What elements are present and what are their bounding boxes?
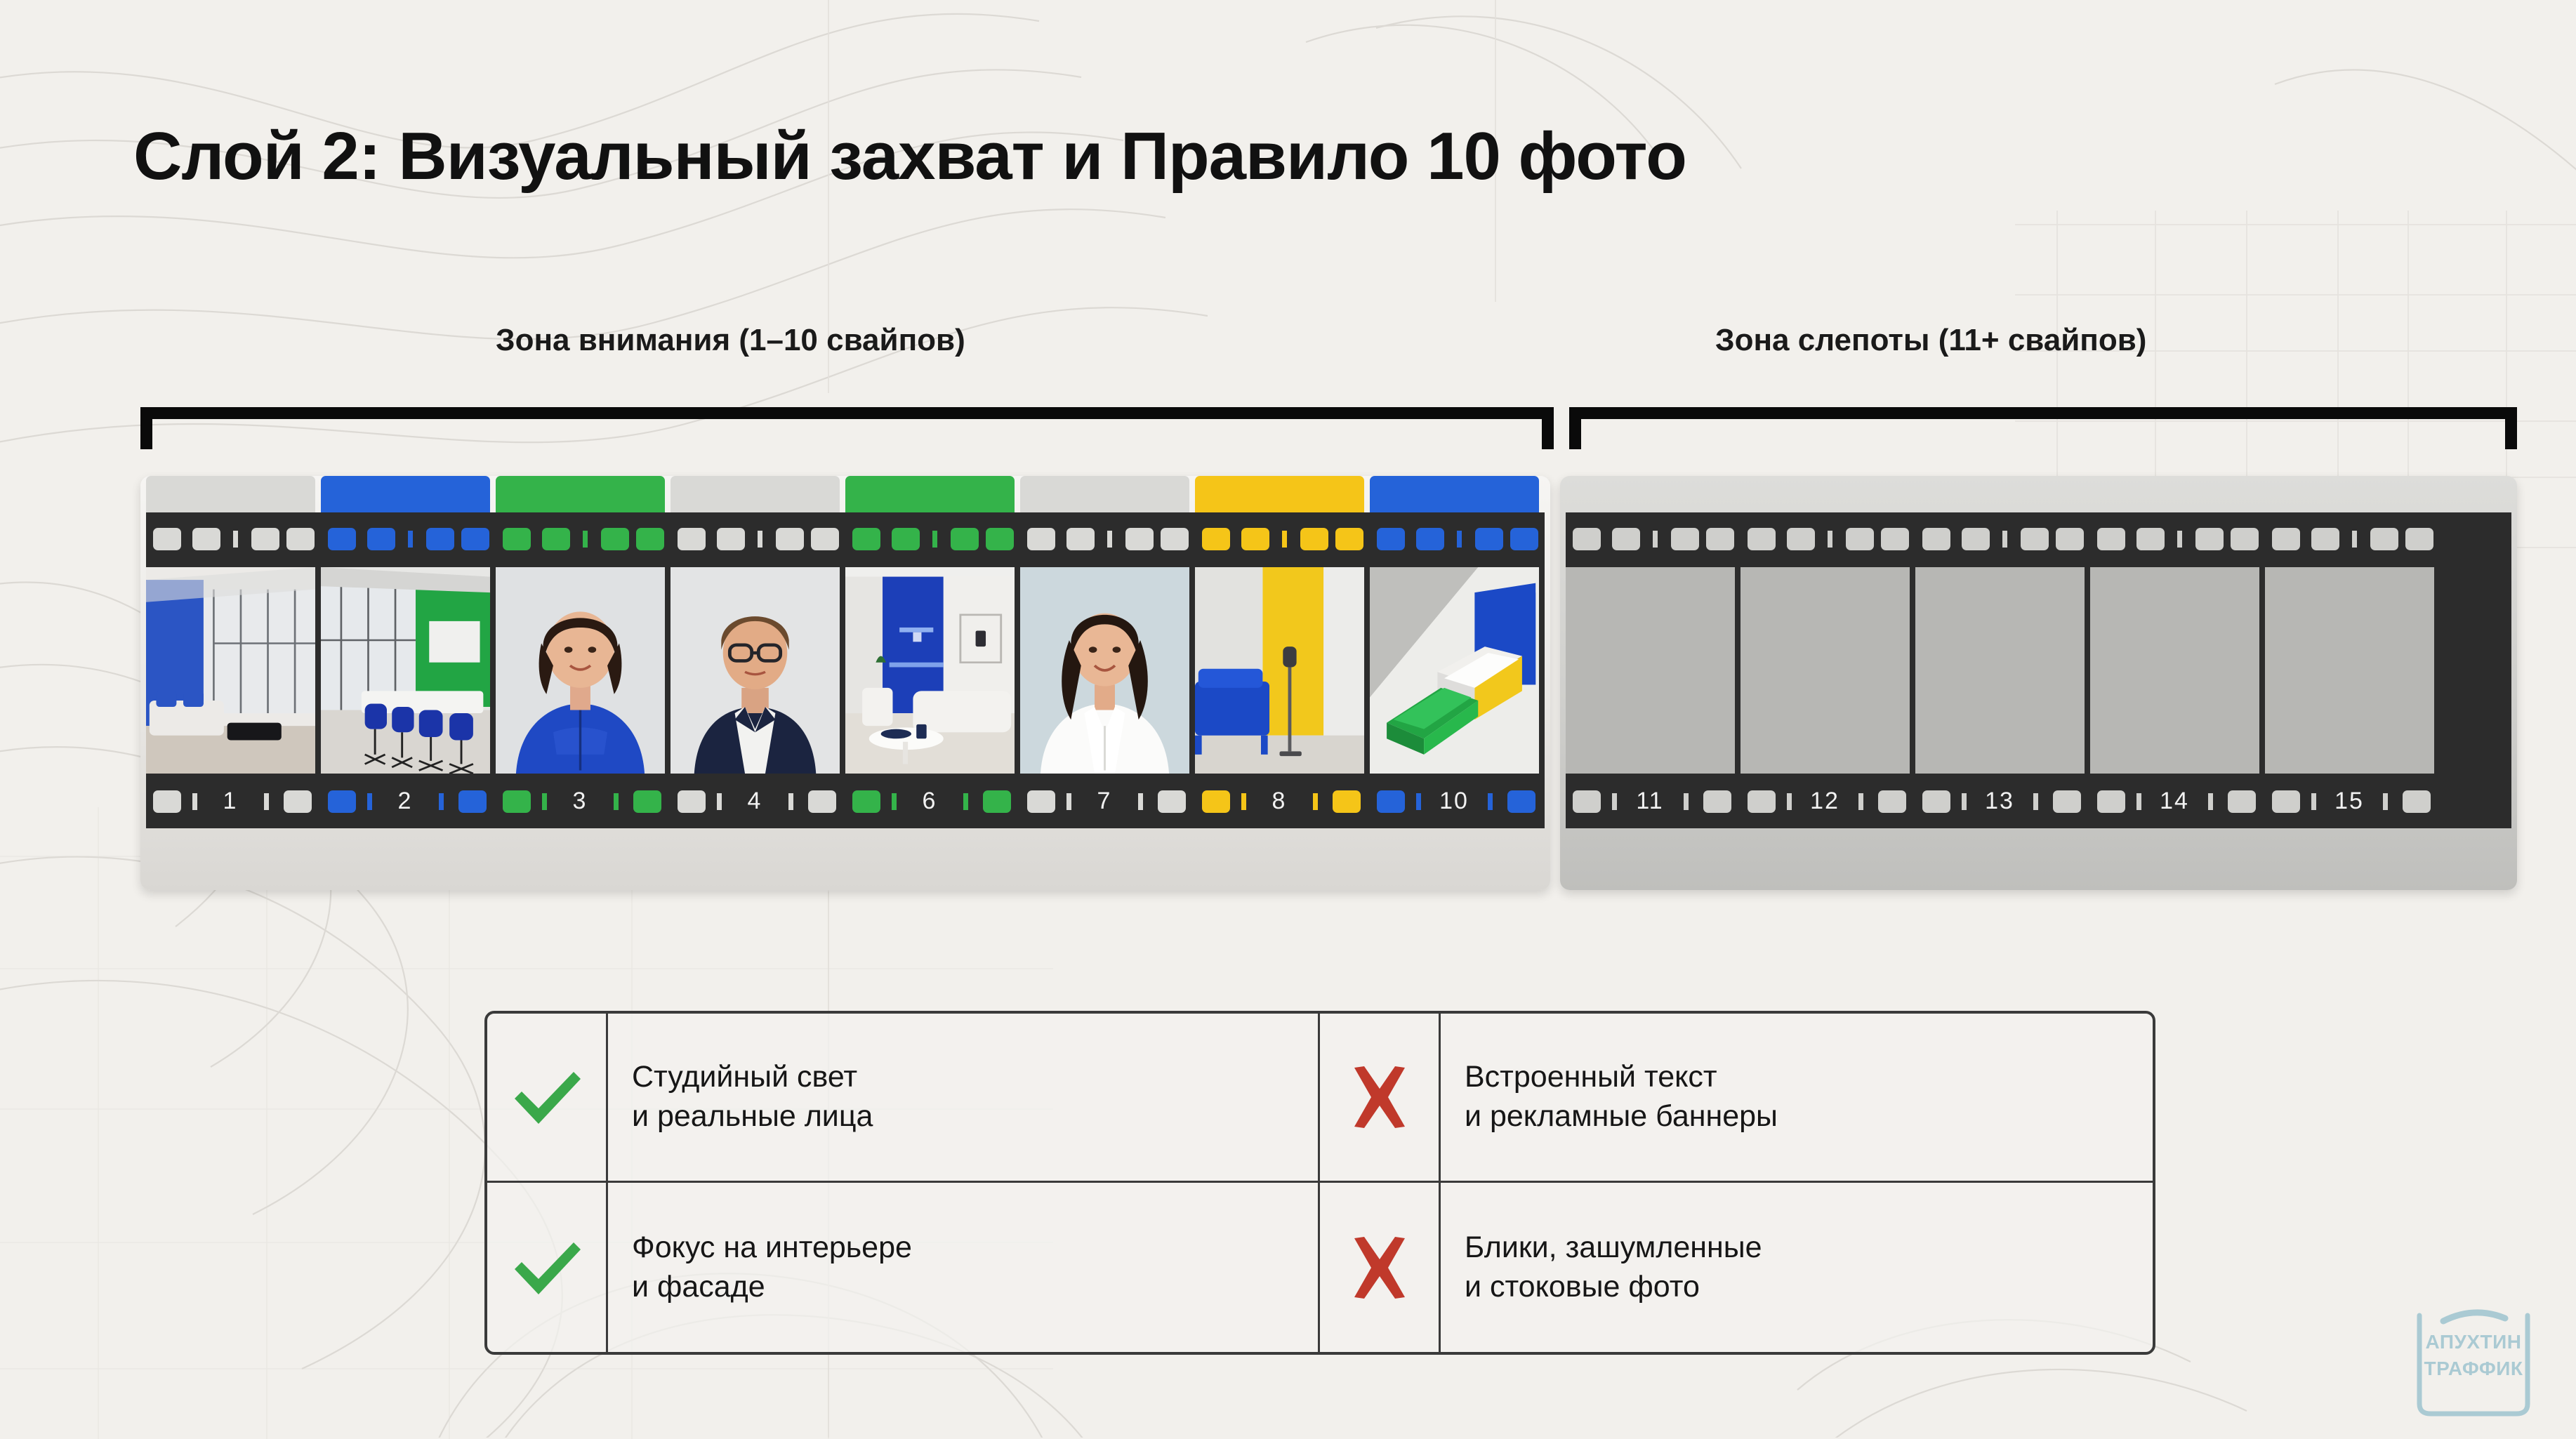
perforation-pip xyxy=(1138,793,1143,810)
perforation-hole xyxy=(503,528,531,550)
bracket-attention-zone xyxy=(140,407,1554,449)
perforation-row-bottom: 1112131415 xyxy=(1566,785,2511,818)
checklist-line-1: Встроенный текст xyxy=(1465,1058,1778,1097)
frame-photo xyxy=(146,567,315,774)
perforation-hole xyxy=(1300,528,1328,550)
perforation-pip xyxy=(788,793,793,810)
perforation-hole xyxy=(1158,790,1186,813)
perforation-hole xyxy=(2097,790,2125,813)
perforation-pip xyxy=(1612,793,1617,810)
perforation-hole xyxy=(2403,790,2431,813)
frame-color-tab xyxy=(1195,476,1364,512)
film-frame[interactable] xyxy=(321,567,490,774)
perforation-hole xyxy=(2272,528,2300,550)
page-title: Слой 2: Визуальный захват и Правило 10 ф… xyxy=(133,118,1686,195)
perforation-hole xyxy=(458,790,487,813)
perforation-pip xyxy=(1416,793,1421,810)
check-icon xyxy=(487,1183,608,1352)
perforation-hole xyxy=(1706,528,1734,550)
frame-list-attention xyxy=(146,567,1545,774)
perforation-hole xyxy=(1787,528,1815,550)
film-frame[interactable] xyxy=(1741,567,1910,774)
perforation-hole xyxy=(1241,528,1269,550)
bracket-tick-left xyxy=(140,407,152,449)
perforation-hole xyxy=(2228,790,2256,813)
perforation-pip xyxy=(1653,531,1658,548)
perforation-hole xyxy=(2136,528,2165,550)
filmstrip-band-attention: 123467810 xyxy=(146,512,1545,828)
perforation-pip xyxy=(1787,793,1792,810)
perforation-pip xyxy=(2383,793,2388,810)
perforation-pip xyxy=(2177,531,2182,548)
perforation-hole xyxy=(1922,790,1950,813)
perforation-pip xyxy=(1066,793,1071,810)
perforation-pip xyxy=(1828,531,1832,548)
perforation-hole xyxy=(1846,528,1874,550)
film-frame[interactable] xyxy=(2265,567,2434,774)
perforation-hole xyxy=(1748,790,1776,813)
frame-color-tab xyxy=(321,476,490,512)
perforation-pip xyxy=(2208,793,2213,810)
perforation-pip xyxy=(192,793,197,810)
checklist-cell-good-1: Студийный свет и реальные лица xyxy=(487,1014,1320,1183)
perforation-hole xyxy=(1881,528,1909,550)
perforation-hole xyxy=(892,528,920,550)
perforation-hole xyxy=(1202,528,1230,550)
filmstrip-band-blindness: 1112131415 xyxy=(1566,512,2511,828)
perforation-hole xyxy=(2056,528,2084,550)
perforation-row-top xyxy=(146,522,1545,556)
checklist-line-2: и рекламные баннеры xyxy=(1465,1097,1778,1136)
perforation-hole xyxy=(1125,528,1154,550)
perforation-hole xyxy=(2370,528,2398,550)
perforation-hole xyxy=(153,528,181,550)
perforation-pip xyxy=(963,793,968,810)
perforation-hole xyxy=(2053,790,2081,813)
film-frame[interactable] xyxy=(671,567,840,774)
perforation-hole xyxy=(286,528,315,550)
checklist-line-1: Блики, зашумленные xyxy=(1465,1228,1762,1268)
perforation-hole xyxy=(1962,528,1990,550)
perforation-pip xyxy=(439,793,444,810)
frame-color-tab xyxy=(496,476,665,512)
check-icon xyxy=(487,1014,608,1181)
perforation-hole xyxy=(251,528,279,550)
frame-photo xyxy=(1370,567,1539,774)
perforation-hole xyxy=(503,790,531,813)
frame-number: 11 xyxy=(1622,788,1678,815)
perforation-pip xyxy=(1488,793,1493,810)
cross-icon-glyph xyxy=(1346,1063,1413,1131)
zone-attention-label: Зона внимания (1–10 свайпов) xyxy=(496,323,965,358)
checklist-line-2: и фасаде xyxy=(632,1268,912,1307)
check-icon-glyph xyxy=(509,1233,585,1303)
bracket-blindness-zone xyxy=(1569,407,2517,449)
perforation-hole xyxy=(2231,528,2259,550)
perforation-hole xyxy=(328,790,356,813)
frame-number: 12 xyxy=(1797,788,1853,815)
cross-icon xyxy=(1320,1014,1441,1181)
perforation-hole xyxy=(1878,790,1906,813)
perforation-row-top xyxy=(1566,522,2511,556)
perforation-pip xyxy=(367,793,372,810)
perforation-pip xyxy=(1282,531,1287,548)
perforation-hole xyxy=(1027,528,1055,550)
checklist-text: Студийный свет и реальные лица xyxy=(608,1058,873,1136)
perforation-hole xyxy=(633,790,661,813)
perforation-hole xyxy=(1416,528,1444,550)
perforation-hole xyxy=(852,790,880,813)
bracket-tick-right xyxy=(1542,407,1554,449)
perforation-hole xyxy=(1510,528,1538,550)
perforation-row-bottom: 123467810 xyxy=(146,785,1545,818)
checklist-line-2: и реальные лица xyxy=(632,1097,873,1136)
perforation-hole xyxy=(601,528,629,550)
perforation-hole xyxy=(2311,528,2339,550)
checklist-text: Фокус на интерьере и фасаде xyxy=(608,1228,912,1307)
perforation-hole xyxy=(1671,528,1699,550)
perforation-hole xyxy=(192,528,220,550)
film-frame[interactable] xyxy=(146,567,315,774)
perforation-hole xyxy=(1066,528,1095,550)
perforation-hole xyxy=(678,790,706,813)
film-frame[interactable] xyxy=(1566,567,1735,774)
perforation-pip xyxy=(1241,793,1246,810)
film-frame[interactable] xyxy=(1370,567,1539,774)
perforation-pip xyxy=(1962,793,1967,810)
cross-icon xyxy=(1320,1183,1441,1352)
frame-number: 7 xyxy=(1076,788,1132,815)
checklist-table: Студийный свет и реальные лица Встроенны… xyxy=(484,1011,2155,1355)
perforation-hole xyxy=(153,790,181,813)
perforation-pip xyxy=(2136,793,2141,810)
film-frame[interactable] xyxy=(1020,567,1189,774)
bracket-bar xyxy=(140,407,1554,419)
perforation-hole xyxy=(1377,528,1405,550)
frame-number: 6 xyxy=(901,788,958,815)
film-frame[interactable] xyxy=(1195,567,1364,774)
perforation-hole xyxy=(426,528,454,550)
frame-number: 1 xyxy=(202,788,258,815)
checklist-line-1: Студийный свет xyxy=(632,1058,873,1097)
watermark-line-2: ТРАФФИК xyxy=(2410,1358,2537,1380)
checklist-text: Блики, зашумленные и стоковые фото xyxy=(1441,1228,1762,1307)
perforation-hole xyxy=(328,528,356,550)
bracket-tick-left xyxy=(1569,407,1581,449)
perforation-hole xyxy=(542,528,570,550)
perforation-pip xyxy=(932,531,937,548)
perforation-pip xyxy=(758,531,762,548)
frame-color-tab xyxy=(845,476,1015,512)
frame-photo xyxy=(1020,567,1189,774)
watermark-line-1: АПУХТИН xyxy=(2410,1331,2537,1353)
perforation-hole xyxy=(284,790,312,813)
frame-number: 8 xyxy=(1251,788,1307,815)
checklist-line-1: Фокус на интерьере xyxy=(632,1228,912,1268)
check-icon-glyph xyxy=(509,1062,585,1132)
perforation-pip xyxy=(2311,793,2316,810)
perforation-hole xyxy=(776,528,804,550)
film-frame[interactable] xyxy=(2090,567,2259,774)
film-frame[interactable] xyxy=(496,567,665,774)
frame-number: 14 xyxy=(2146,788,2202,815)
perforation-hole xyxy=(852,528,880,550)
perforation-pip xyxy=(1457,531,1462,548)
perforation-hole xyxy=(2021,528,2049,550)
perforation-hole xyxy=(1703,790,1731,813)
perforation-hole xyxy=(1507,790,1535,813)
perforation-hole xyxy=(983,790,1011,813)
watermark-logo: АПУХТИН ТРАФФИК xyxy=(2410,1297,2537,1422)
filmstrip: 123467810 1112131415 xyxy=(140,476,2517,890)
perforation-pip xyxy=(2352,531,2357,548)
perforation-hole xyxy=(1573,790,1601,813)
perforation-hole xyxy=(1161,528,1189,550)
frame-photo xyxy=(845,567,1015,774)
perforation-hole xyxy=(811,528,839,550)
frame-list-blindness xyxy=(1566,567,2511,774)
perforation-hole xyxy=(1377,790,1405,813)
frame-color-tab xyxy=(146,476,315,512)
perforation-pip xyxy=(2033,793,2038,810)
filmstrip-color-tabs xyxy=(146,476,1545,512)
zone-blindness-label: Зона слепоты (11+ свайпов) xyxy=(1715,323,2146,358)
frame-number: 4 xyxy=(727,788,783,815)
perforation-pip xyxy=(542,793,547,810)
perforation-hole xyxy=(367,528,395,550)
perforation-pip xyxy=(1107,531,1112,548)
perforation-pip xyxy=(2002,531,2007,548)
frame-number: 15 xyxy=(2321,788,2377,815)
perforation-hole xyxy=(2405,528,2433,550)
frame-number: 3 xyxy=(552,788,608,815)
checklist-cell-bad-2: Блики, зашумленные и стоковые фото xyxy=(1320,1183,2153,1352)
perforation-hole xyxy=(2195,528,2224,550)
frame-photo xyxy=(321,567,490,774)
perforation-hole xyxy=(808,790,836,813)
perforation-hole xyxy=(1922,528,1950,550)
perforation-hole xyxy=(2272,790,2300,813)
perforation-hole xyxy=(986,528,1014,550)
perforation-pip xyxy=(1313,793,1318,810)
frame-photo xyxy=(496,567,665,774)
perforation-hole xyxy=(636,528,664,550)
film-frame[interactable] xyxy=(845,567,1015,774)
perforation-pip xyxy=(408,531,413,548)
perforation-hole xyxy=(1475,528,1503,550)
checklist-cell-good-2: Фокус на интерьере и фасаде xyxy=(487,1183,1320,1352)
cross-icon-glyph xyxy=(1346,1234,1413,1301)
perforation-pip xyxy=(892,793,897,810)
perforation-hole xyxy=(1748,528,1776,550)
film-frame[interactable] xyxy=(1915,567,2085,774)
checklist-cell-bad-1: Встроенный текст и рекламные баннеры xyxy=(1320,1014,2153,1183)
perforation-hole xyxy=(2097,528,2125,550)
perforation-hole xyxy=(951,528,979,550)
perforation-pip xyxy=(1684,793,1689,810)
perforation-pip xyxy=(583,531,588,548)
frame-color-tab xyxy=(671,476,840,512)
perforation-hole xyxy=(1202,790,1230,813)
bracket-tick-right xyxy=(2505,407,2517,449)
perforation-hole xyxy=(717,528,745,550)
frame-color-tab xyxy=(1020,476,1189,512)
perforation-hole xyxy=(1335,528,1363,550)
perforation-pip xyxy=(1858,793,1863,810)
perforation-hole xyxy=(1612,528,1640,550)
perforation-hole xyxy=(1027,790,1055,813)
checklist-text: Встроенный текст и рекламные баннеры xyxy=(1441,1058,1778,1136)
frame-number: 10 xyxy=(1426,788,1482,815)
frame-color-tab xyxy=(1370,476,1539,512)
bracket-bar xyxy=(1569,407,2517,419)
frame-photo xyxy=(1195,567,1364,774)
perforation-hole xyxy=(1573,528,1601,550)
perforation-pip xyxy=(264,793,269,810)
checklist-line-2: и стоковые фото xyxy=(1465,1268,1762,1307)
perforation-pip xyxy=(614,793,619,810)
perforation-hole xyxy=(1333,790,1361,813)
perforation-pip xyxy=(233,531,238,548)
perforation-hole xyxy=(678,528,706,550)
frame-photo xyxy=(671,567,840,774)
perforation-hole xyxy=(461,528,489,550)
frame-number: 13 xyxy=(1971,788,2028,815)
frame-number: 2 xyxy=(377,788,433,815)
perforation-pip xyxy=(717,793,722,810)
